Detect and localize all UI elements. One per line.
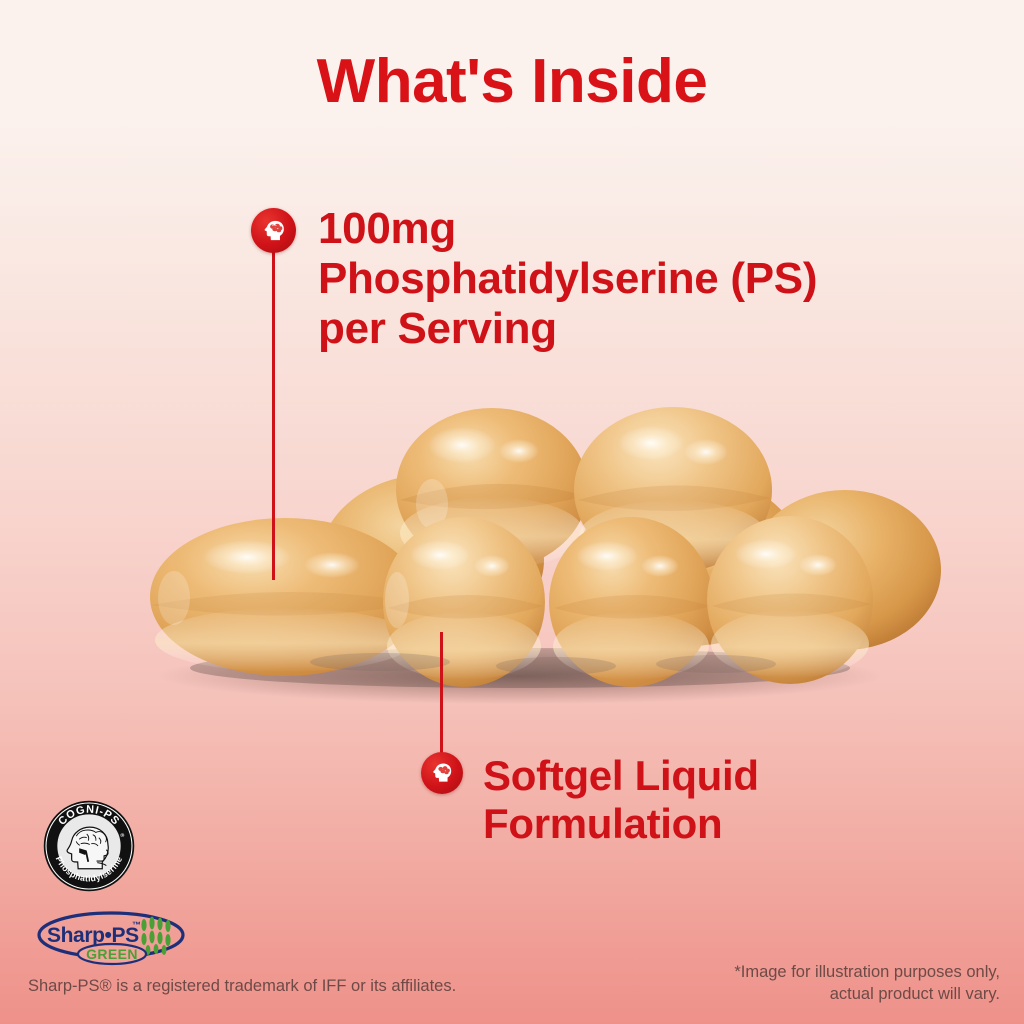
callout-1-line-1: 100mg xyxy=(318,204,918,254)
callout-2-text: Softgel Liquid Formulation xyxy=(483,752,963,848)
sharp-ps-green-logo: Sharp•PS ™ GREEN xyxy=(36,908,186,966)
callout-1-leader-line xyxy=(272,250,275,580)
callout-1-text: 100mg Phosphatidylserine (PS) per Servin… xyxy=(318,204,918,354)
infographic-canvas: What's Inside 100mg Phosphatidylserine (… xyxy=(0,0,1024,1024)
page-title: What's Inside xyxy=(0,48,1024,116)
brain-head-icon xyxy=(251,208,296,253)
sharp-ps-logo-badge-text: GREEN xyxy=(86,946,138,962)
callout-2-leader-line xyxy=(440,632,443,758)
callout-2-line-1: Softgel Liquid xyxy=(483,752,963,800)
softgel-capsule-pile xyxy=(0,0,1024,1024)
green-leaf-pattern xyxy=(141,917,170,955)
cogni-ps-logo: COGNI-PS ® Phosphatidylserine xyxy=(28,800,150,892)
sharp-ps-logo-main-text: Sharp•PS xyxy=(47,924,139,947)
callout-1-line-3: per Serving xyxy=(318,304,918,354)
footnote-disclaimer-line-1: *Image for illustration purposes only, xyxy=(734,962,1000,984)
footnote-disclaimer: *Image for illustration purposes only, a… xyxy=(734,962,1000,1006)
callout-2-line-2: Formulation xyxy=(483,800,963,848)
footnote-disclaimer-line-2: actual product will vary. xyxy=(734,984,1000,1006)
footnote-trademark: Sharp-PS® is a registered trademark of I… xyxy=(28,976,456,998)
sharp-ps-logo-trademark-mark: ™ xyxy=(132,920,141,930)
callout-1-line-2: Phosphatidylserine (PS) xyxy=(318,254,918,304)
capsule-front-left xyxy=(150,518,420,676)
brain-head-icon xyxy=(421,752,463,794)
